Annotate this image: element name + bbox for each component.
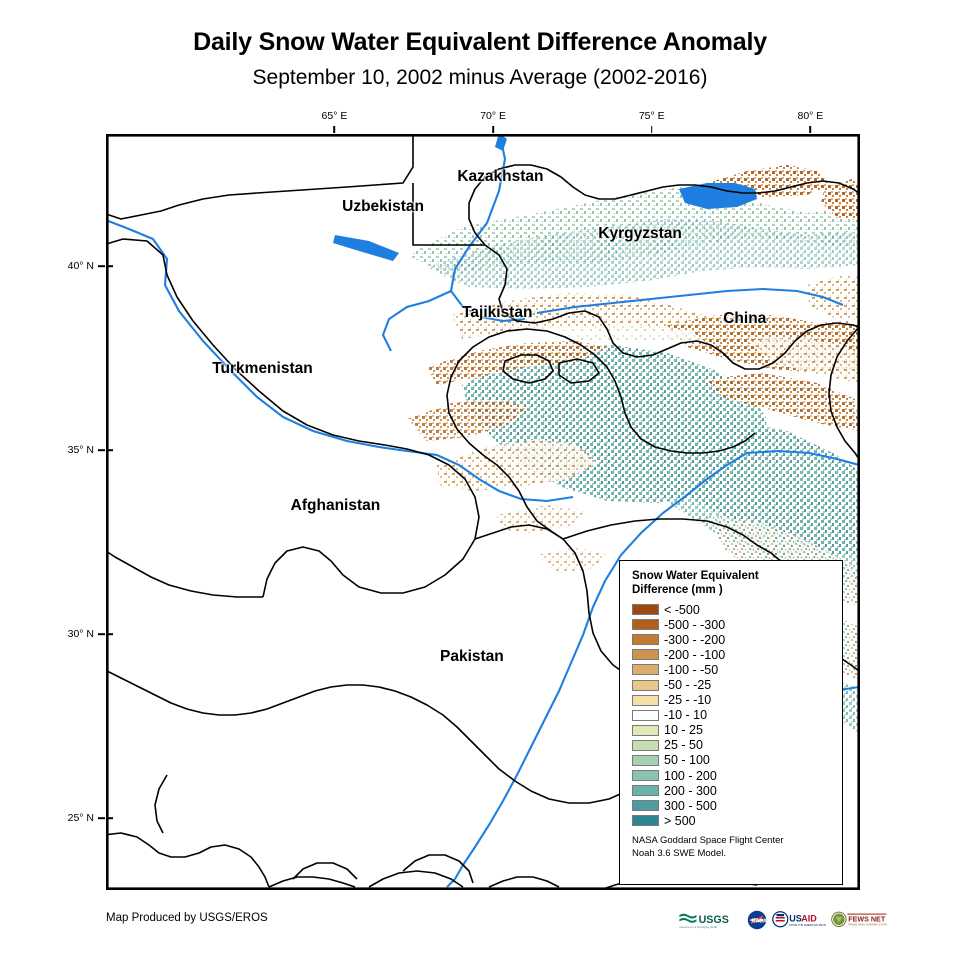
legend-label: -300 - -200 — [664, 634, 725, 646]
lon-tick — [334, 126, 336, 133]
legend-label: -500 - -300 — [664, 619, 725, 631]
fewsnet-logo: FEWS NET FAMINE EARLY WARNING SYSTEMS NE… — [831, 910, 887, 930]
legend-row: -10 - 10 — [632, 708, 842, 723]
svg-text:FEWS NET: FEWS NET — [848, 915, 886, 923]
legend-source-note: NASA Goddard Space Flight Center Noah 3.… — [632, 835, 832, 860]
legend-class-list: < -500-500 - -300-300 - -200-200 - -100-… — [632, 602, 842, 828]
legend-label: 300 - 500 — [664, 800, 717, 812]
page-subtitle: September 10, 2002 minus Average (2002-2… — [0, 66, 960, 90]
legend-row: 25 - 50 — [632, 738, 842, 753]
lat-tick — [98, 817, 105, 819]
legend-swatch — [632, 815, 659, 826]
lat-label: 30° N — [48, 628, 94, 640]
logo-strip: USGS science for a changing world NASA U… — [678, 907, 887, 933]
usgs-logo: USGS science for a changing world — [678, 910, 742, 930]
lat-tick — [98, 450, 105, 452]
svg-text:science for a changing world: science for a changing world — [679, 925, 717, 929]
lat-tick-inner — [107, 817, 113, 819]
legend-swatch — [632, 649, 659, 660]
svg-text:FAMINE EARLY WARNING SYSTEMS N: FAMINE EARLY WARNING SYSTEMS NETWORK — [848, 924, 887, 927]
legend-swatch — [632, 725, 659, 736]
legend-label: -50 - -25 — [664, 679, 711, 691]
lon-label: 70° E — [480, 110, 506, 122]
legend-source-line1: NASA Goddard Space Flight Center — [632, 835, 832, 848]
lon-label: 65° E — [322, 110, 348, 122]
lat-label: 25° N — [48, 812, 94, 824]
legend-row: -100 - -50 — [632, 662, 842, 677]
legend-title-line2: Difference (mm ) — [632, 583, 822, 597]
legend-swatch — [632, 619, 659, 630]
legend-swatch — [632, 634, 659, 645]
page-title: Daily Snow Water Equivalent Difference A… — [0, 28, 960, 57]
legend-row: 10 - 25 — [632, 723, 842, 738]
legend-label: -200 - -100 — [664, 649, 725, 661]
legend-swatch — [632, 695, 659, 706]
svg-text:FROM THE AMERICAN PEOPLE: FROM THE AMERICAN PEOPLE — [789, 923, 826, 927]
legend-swatch — [632, 604, 659, 615]
legend-row: -500 - -300 — [632, 617, 842, 632]
lat-tick-inner — [107, 450, 113, 452]
legend-swatch — [632, 680, 659, 691]
legend-label: 100 - 200 — [664, 770, 717, 782]
lon-tick — [651, 126, 653, 133]
legend-row: > 500 — [632, 813, 842, 828]
legend-swatch — [632, 785, 659, 796]
lat-label: 40° N — [48, 260, 94, 272]
legend-title: Snow Water Equivalent Difference (mm ) — [632, 569, 822, 597]
legend-row: 50 - 100 — [632, 753, 842, 768]
legend-row: -200 - -100 — [632, 647, 842, 662]
lon-label: 75° E — [639, 110, 665, 122]
legend-row: -50 - -25 — [632, 677, 842, 692]
lon-label: 80° E — [797, 110, 823, 122]
legend-swatch — [632, 664, 659, 675]
legend-label: 50 - 100 — [664, 754, 710, 766]
legend-label: < -500 — [664, 604, 700, 616]
legend-swatch — [632, 770, 659, 781]
legend-swatch — [632, 710, 659, 721]
lat-tick-inner — [107, 633, 113, 635]
lat-tick-inner — [107, 266, 113, 268]
title-block: Daily Snow Water Equivalent Difference A… — [0, 0, 960, 90]
legend-label: 25 - 50 — [664, 739, 703, 751]
legend-row: -300 - -200 — [632, 632, 842, 647]
lat-label: 35° N — [48, 444, 94, 456]
legend-title-line1: Snow Water Equivalent — [632, 569, 822, 583]
svg-text:AID: AID — [801, 914, 817, 924]
legend-label: 200 - 300 — [664, 785, 717, 797]
lon-tick — [810, 126, 812, 133]
map-legend: Snow Water Equivalent Difference (mm ) <… — [619, 560, 843, 885]
usaid-logo: US AID FROM THE AMERICAN PEOPLE — [772, 910, 826, 930]
svg-text:USGS: USGS — [699, 914, 729, 926]
lon-tick — [492, 126, 494, 133]
legend-label: -25 - -10 — [664, 694, 711, 706]
legend-row: 200 - 300 — [632, 783, 842, 798]
lat-tick — [98, 266, 105, 268]
legend-row: < -500 — [632, 602, 842, 617]
legend-swatch — [632, 800, 659, 811]
svg-text:NASA: NASA — [752, 918, 767, 924]
legend-row: 300 - 500 — [632, 798, 842, 813]
legend-label: -100 - -50 — [664, 664, 718, 676]
nasa-logo: NASA — [747, 910, 767, 930]
footer-credit: Map Produced by USGS/EROS — [106, 912, 268, 924]
svg-text:US: US — [789, 914, 802, 924]
legend-row: 100 - 200 — [632, 768, 842, 783]
legend-label: 10 - 25 — [664, 724, 703, 736]
lat-tick — [98, 633, 105, 635]
legend-label: -10 - 10 — [664, 709, 707, 721]
legend-source-line2: Noah 3.6 SWE Model. — [632, 848, 832, 861]
legend-label: > 500 — [664, 815, 696, 827]
legend-swatch — [632, 755, 659, 766]
legend-row: -25 - -10 — [632, 693, 842, 708]
legend-swatch — [632, 740, 659, 751]
